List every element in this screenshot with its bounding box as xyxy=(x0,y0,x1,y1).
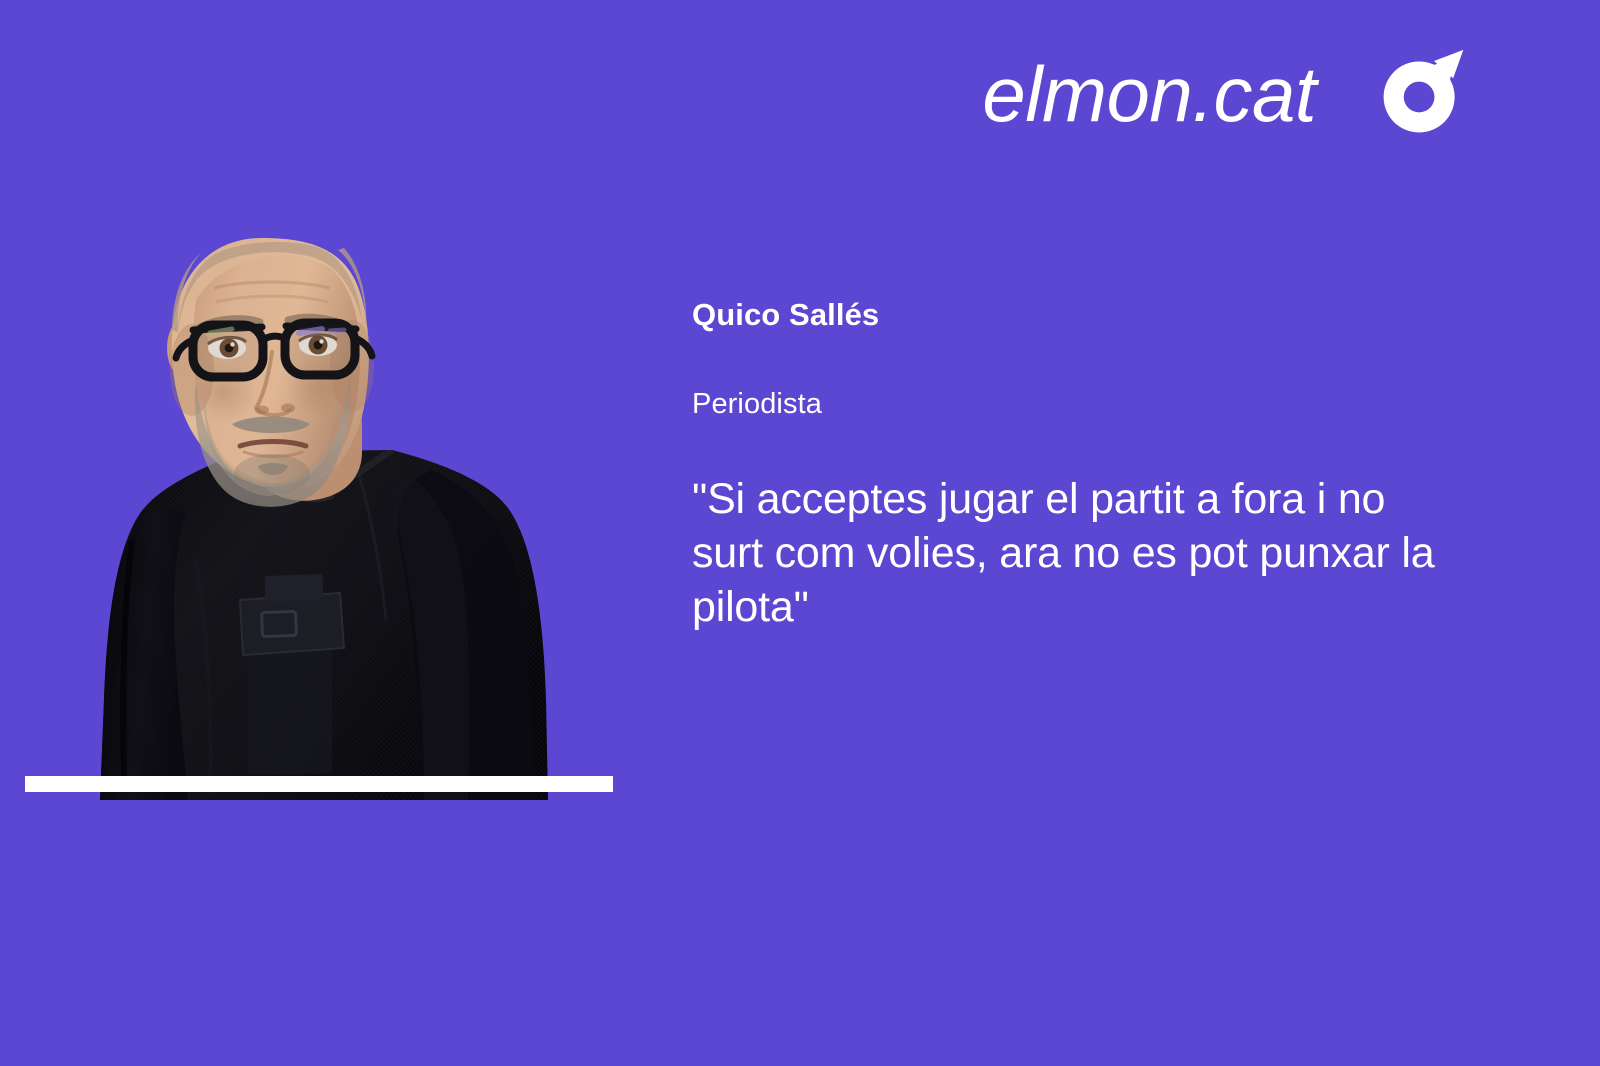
portrait-container xyxy=(0,0,660,800)
text-column: Quico Sallés Periodista "Si acceptes jug… xyxy=(692,296,1452,635)
white-underline-rule xyxy=(25,776,613,792)
quote-card: elmon.cat xyxy=(0,0,1600,1066)
brand-header: elmon.cat xyxy=(982,44,1470,144)
elmon-ring-speech-bubble-logo-icon xyxy=(1374,48,1470,144)
speaker-name: Quico Sallés xyxy=(692,296,1452,333)
quote-text: "Si acceptes jugar el partit a fora i no… xyxy=(692,422,1444,635)
quico-salles-portrait xyxy=(0,0,660,800)
speaker-role: Periodista xyxy=(692,333,1452,422)
brand-wordmark: elmon.cat xyxy=(982,55,1316,133)
